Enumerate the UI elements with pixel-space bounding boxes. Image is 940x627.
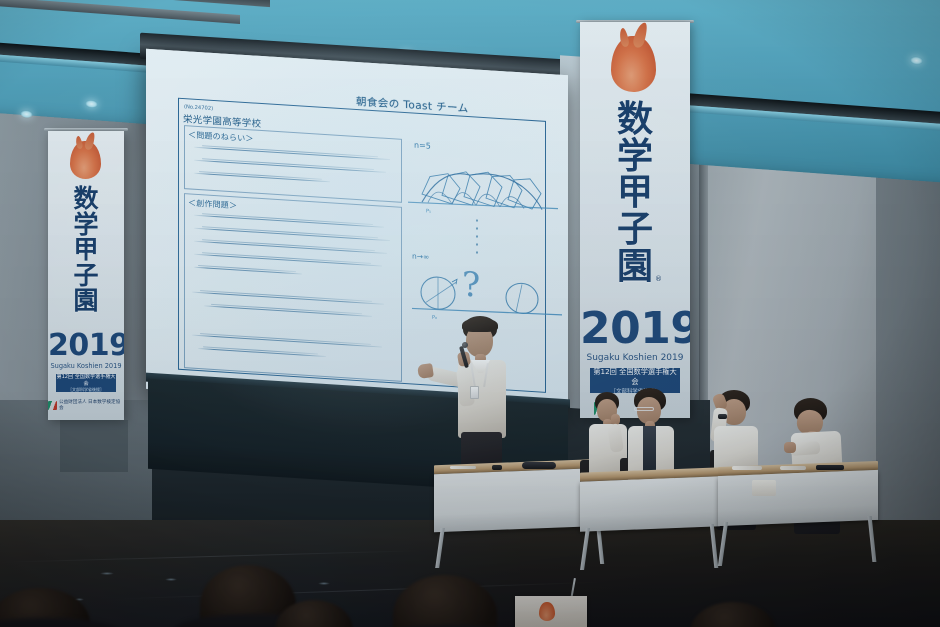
flame-icon [539,602,555,621]
banner-left-subtitle-1: 第12回 全国数学選手権大会 [56,373,116,387]
banner-left-organization: 公益財団法人 日本数学検定協会 [48,399,124,411]
name-badge [470,386,479,399]
presenter-hand-open [417,363,434,379]
flame-icon [611,36,656,92]
flame-icon [70,141,101,179]
organization-mark-icon [48,401,57,410]
glasses [634,407,654,411]
floor-glint [100,572,114,575]
banner-left-org-text: 公益財団法人 日本数学検定協会 [59,399,124,411]
kanji-char: 甲 [580,175,690,212]
desk-object [492,465,502,470]
kanji-char: 数 [580,102,690,139]
floor-sign [515,596,587,627]
paper-note [752,480,776,496]
banner-left: 数 学 甲 子 園 2019 Sugaku Koshien 2019 第12回 … [48,131,124,420]
kanji-char: 子 [580,212,690,249]
banner-right-kanji: 数 学 甲 子 園 ® [580,102,690,286]
presenter-hair-top [462,318,498,332]
banner-left-year: 2019 [48,328,124,363]
registered-mark: ® [655,276,662,283]
wristwatch [718,414,727,419]
banner-left-shadow [60,420,128,472]
presenter [430,316,540,486]
desk-modesty-panel [580,476,720,531]
diagram-label-n-infinity: n→∞ [412,251,429,261]
diagram-ellipsis-dots [476,219,478,253]
microphone-head [462,342,468,348]
floor-glint [318,582,330,585]
presentation-hall-photo: 朝食会の Toast チーム (No.24702) 栄光学園高等学校 ＜問題のね… [0,0,940,627]
downlight [85,100,98,109]
floor-glint [165,578,177,581]
kanji-char: 園 [617,246,653,287]
student-desk-right [718,464,878,536]
banner-right-subtitle-1: 第12回 全国数学選手権大会 [590,367,680,387]
paper-sheet [732,466,762,470]
banner-right-year: 2019 [580,303,690,354]
desk-object [522,462,556,469]
rolling-polygon-diagram: P₅ [408,149,568,229]
student-desk-left [580,470,720,540]
downlight [910,56,923,65]
banner-left-subtitle: 第12回 全国数学選手権大会 ［文部科学省後援］ [56,374,116,392]
student-necktie [643,426,656,472]
svg-text:P₅: P₅ [426,208,431,214]
kanji-char: 甲 [48,237,124,263]
paper-sheet [780,466,806,470]
kanji-char: 数 [48,186,124,212]
kanji-char: 学 [580,139,690,176]
banner-left-romaji: Sugaku Koshien 2019 [48,362,124,370]
paper-sheet [450,466,476,469]
kanji-char: 園 [48,288,124,314]
kanji-char: 学 [48,212,124,238]
desk-object [816,465,844,470]
banner-right-romaji: Sugaku Koshien 2019 [580,353,690,363]
banner-left-subtitle-2: ［文部科学省後援］ [68,387,104,393]
banner-right: 数 学 甲 子 園 ® 2019 Sugaku Koshien 2019 第12… [580,22,690,418]
kanji-char: 子 [48,263,124,289]
desk-modesty-panel [718,470,878,526]
banner-left-kanji: 数 学 甲 子 園 [48,186,124,314]
student-hand [784,442,796,453]
